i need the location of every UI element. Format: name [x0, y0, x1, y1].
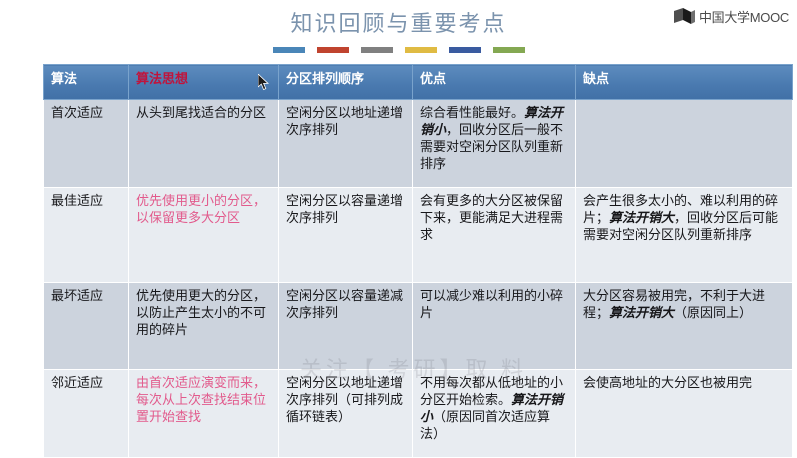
- column-header-idea: 算法思想: [129, 65, 279, 100]
- cell-idea: 从头到尾找适合的分区: [129, 100, 279, 188]
- cell-partition-order: 空闲分区以容量递增次序排列: [279, 188, 413, 283]
- cell-partition-order: 空闲分区以地址递增次序排列: [279, 100, 413, 188]
- brand-name: 中国大学MOOC: [699, 7, 789, 26]
- column-header-algorithm: 算法: [44, 65, 129, 100]
- cell-partition-order: 空闲分区以地址递增次序排列（可排列成循环链表）: [279, 370, 413, 458]
- knowledge-review-table: 算法 算法思想 分区排列顺序 优点 缺点 首次适应 从头到尾找适合的分区 空闲分…: [43, 64, 793, 458]
- table-row: 首次适应 从头到尾找适合的分区 空闲分区以地址递增次序排列 综合看性能最好。算法…: [44, 100, 793, 188]
- accent-bar-yellow: [405, 47, 437, 53]
- cell-pros: 综合看性能最好。算法开销小，回收分区后一般不需要对空闲分区队列重新排序: [413, 100, 576, 188]
- cell-cons: 会产生很多太小的、难以利用的碎片；算法开销大，回收分区后可能需要对空闲分区队列重…: [576, 188, 793, 283]
- cell-cons: [576, 100, 793, 188]
- column-header-pros: 优点: [413, 65, 576, 100]
- pros-text-pre: 综合看性能最好。: [420, 105, 524, 120]
- cell-algorithm: 首次适应: [44, 100, 129, 188]
- column-header-cons: 缺点: [576, 65, 793, 100]
- cell-idea: 由首次适应演变而来，每次从上次查找结束位置开始查找: [129, 370, 279, 458]
- accent-bar-green: [493, 47, 525, 53]
- cell-algorithm: 最坏适应: [44, 283, 129, 370]
- cell-pros: 可以减少难以利用的小碎片: [413, 283, 576, 370]
- brand-logo: 中国大学MOOC: [674, 7, 789, 26]
- cell-idea: 优先使用更小的分区，以保留更多大分区: [129, 188, 279, 283]
- cell-partition-order: 空闲分区以容量递减次序排列: [279, 283, 413, 370]
- table-row: 最佳适应 优先使用更小的分区，以保留更多大分区 空闲分区以容量递增次序排列 会有…: [44, 188, 793, 283]
- cons-text-emphasis: 算法开销大: [609, 210, 674, 225]
- cell-algorithm: 最佳适应: [44, 188, 129, 283]
- cons-text-pre: 会使高地址的大分区也被用完: [583, 375, 752, 390]
- slide-header: 知识回顾与重要考点 中国大学MOOC: [0, 0, 797, 60]
- cell-algorithm: 邻近适应: [44, 370, 129, 458]
- book-icon: [674, 8, 696, 25]
- accent-bar-red: [317, 47, 349, 53]
- cell-cons: 会使高地址的大分区也被用完: [576, 370, 793, 458]
- table-row: 邻近适应 由首次适应演变而来，每次从上次查找结束位置开始查找 空闲分区以地址递增…: [44, 370, 793, 458]
- table-row: 最坏适应 优先使用更大的分区，以防止产生太小的不可用的碎片 空闲分区以容量递减次…: [44, 283, 793, 370]
- accent-bar-gray: [361, 47, 393, 53]
- accent-bar-navy: [449, 47, 481, 53]
- pros-text-pre: 会有更多的大分区被保留下来，更能满足大进程需求: [420, 193, 563, 242]
- column-header-partition-order: 分区排列顺序: [279, 65, 413, 100]
- cell-idea: 优先使用更大的分区，以防止产生太小的不可用的碎片: [129, 283, 279, 370]
- pros-text-pre: 可以减少难以利用的小碎片: [420, 288, 563, 320]
- accent-bar-blue: [273, 47, 305, 53]
- cons-text-emphasis: 算法开销大: [609, 305, 674, 320]
- cell-cons: 大分区容易被用完，不利于大进程；算法开销大（原因同上）: [576, 283, 793, 370]
- accent-bar-group: [273, 47, 525, 53]
- table-header-row: 算法 算法思想 分区排列顺序 优点 缺点: [44, 65, 793, 100]
- knowledge-review-table-wrapper: 算法 算法思想 分区排列顺序 优点 缺点 首次适应 从头到尾找适合的分区 空闲分…: [43, 64, 792, 458]
- cell-pros: 不用每次都从低地址的小分区开始检索。算法开销小（原因同首次适应算法）: [413, 370, 576, 458]
- cons-text-post: （原因同上）: [674, 305, 752, 320]
- pros-text-post: （原因同首次适应算法）: [420, 409, 550, 441]
- cell-pros: 会有更多的大分区被保留下来，更能满足大进程需求: [413, 188, 576, 283]
